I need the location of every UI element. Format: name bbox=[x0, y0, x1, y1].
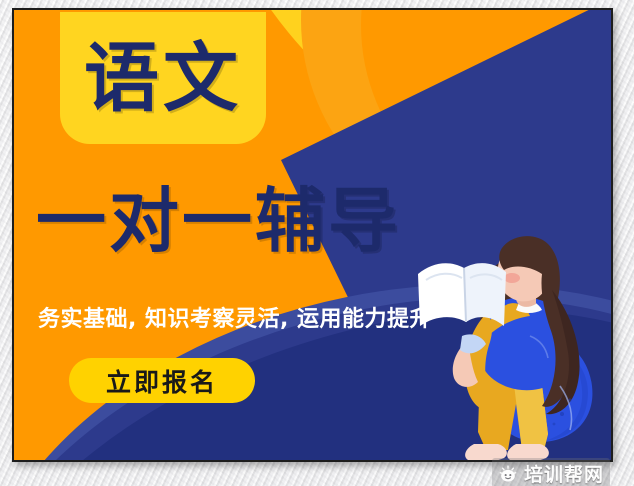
signup-button[interactable]: 立即报名 bbox=[69, 358, 255, 403]
subject-badge-label: 语文 bbox=[84, 41, 242, 116]
girl-reading-illustration bbox=[412, 218, 611, 460]
site-watermark: 培训帮网 bbox=[492, 458, 610, 486]
subject-badge: 语文 bbox=[60, 12, 266, 144]
poster-headline: 一对一辅导 bbox=[36, 186, 401, 256]
site-watermark-label: 培训帮网 bbox=[524, 460, 604, 486]
course-promo-poster: 语文 一对一辅导 务实基础, 知识考察灵活, 运用能力提升 bbox=[12, 8, 613, 462]
sun-face-icon bbox=[498, 464, 518, 484]
poster-subtitle: 务实基础, 知识考察灵活, 运用能力提升 bbox=[38, 301, 432, 333]
poster-stage: 语文 一对一辅导 务实基础, 知识考察灵活, 运用能力提升 bbox=[14, 10, 611, 460]
screenshot-canvas: 语文 一对一辅导 务实基础, 知识考察灵活, 运用能力提升 bbox=[0, 0, 634, 486]
signup-button-label: 立即报名 bbox=[106, 363, 218, 399]
